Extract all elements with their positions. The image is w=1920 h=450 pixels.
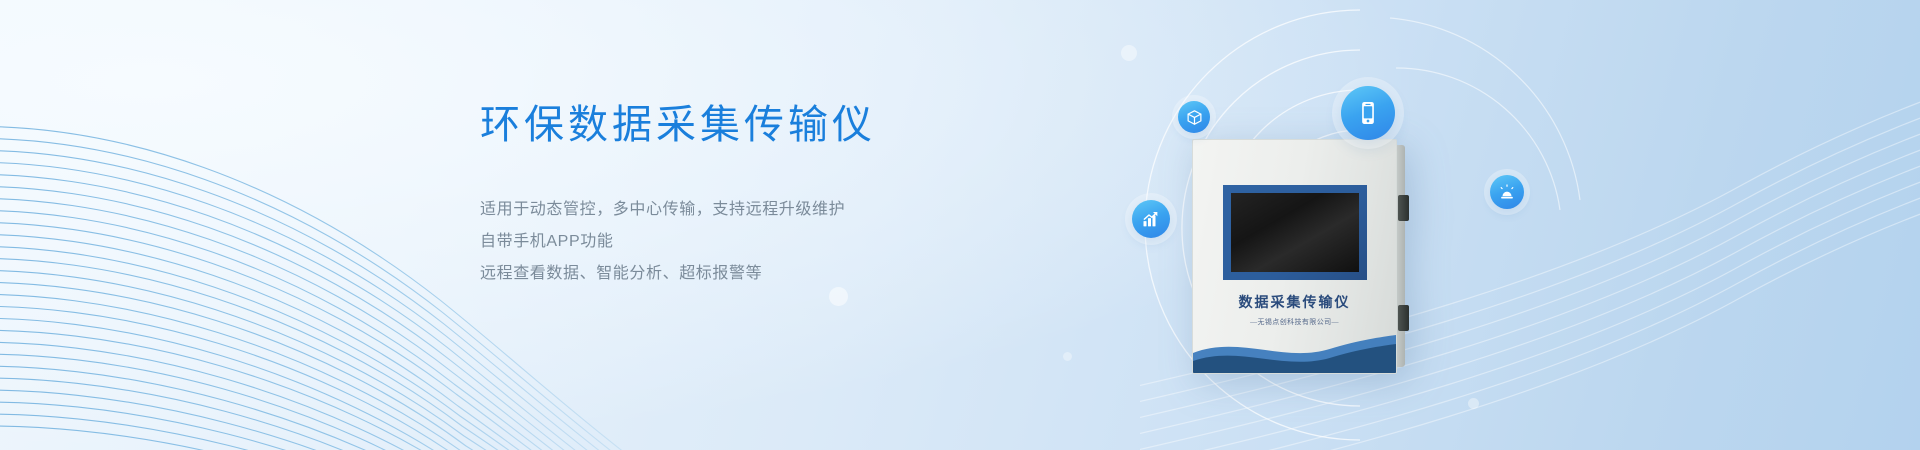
device-screen xyxy=(1231,193,1359,272)
decorative-dot xyxy=(1063,352,1072,361)
decorative-dot xyxy=(1468,398,1479,409)
cube-icon-bubble[interactable] xyxy=(1178,101,1210,133)
decorative-dot xyxy=(1121,45,1137,61)
device-company-name: —无锡点创科技有限公司— xyxy=(1193,317,1396,327)
banner-title: 环保数据采集传输仪 xyxy=(480,100,1120,150)
device-screen-frame xyxy=(1223,185,1367,280)
device-bottom-wave xyxy=(1193,327,1396,373)
banner-subtitle-line-3: 远程查看数据、智能分析、超标报警等 xyxy=(480,258,1120,290)
banner-subtitle-line-1: 适用于动态管控，多中心传输，支持远程升级维护 xyxy=(480,194,1120,226)
chart-icon xyxy=(1141,209,1161,229)
phone-icon-bubble[interactable] xyxy=(1341,86,1395,140)
product-banner: 环保数据采集传输仪 适用于动态管控，多中心传输，支持远程升级维护 自带手机APP… xyxy=(0,0,1920,450)
device-latch-bottom xyxy=(1398,305,1409,331)
device-latch-top xyxy=(1398,195,1409,221)
chart-icon-bubble[interactable] xyxy=(1132,200,1170,238)
alarm-icon xyxy=(1498,183,1516,201)
phone-icon xyxy=(1355,100,1381,126)
device-panel-name: 数据采集传输仪 xyxy=(1193,292,1396,312)
banner-subtitle-line-2: 自带手机APP功能 xyxy=(480,226,1120,258)
banner-text-block: 环保数据采集传输仪 适用于动态管控，多中心传输，支持远程升级维护 自带手机APP… xyxy=(480,100,1120,290)
device-label: 数据采集传输仪 —无锡点创科技有限公司— xyxy=(1193,292,1396,327)
cube-icon xyxy=(1186,109,1203,126)
product-device-image: 数据采集传输仪 —无锡点创科技有限公司— xyxy=(1192,139,1397,374)
alarm-icon-bubble[interactable] xyxy=(1490,175,1524,209)
device-body: 数据采集传输仪 —无锡点创科技有限公司— xyxy=(1192,139,1397,374)
